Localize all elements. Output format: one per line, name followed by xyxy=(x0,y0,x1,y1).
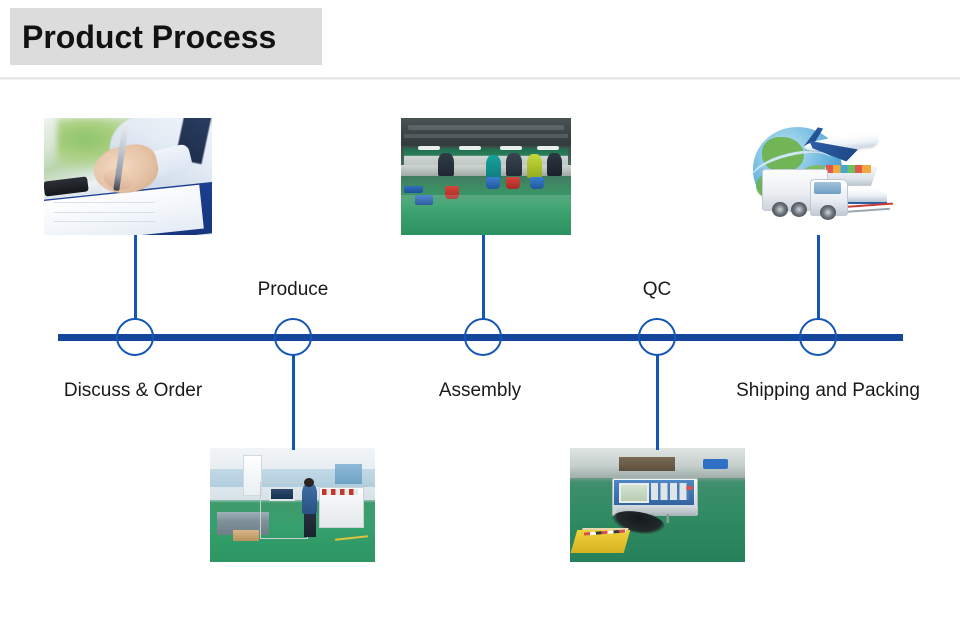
timeline-node-assembly[interactable] xyxy=(464,318,502,356)
connector-produce xyxy=(292,355,295,450)
connector-shipping-packing xyxy=(817,235,820,320)
timeline-node-qc[interactable] xyxy=(638,318,676,356)
connector-discuss-order xyxy=(134,235,137,320)
slide-canvas: Product Process xyxy=(0,0,960,617)
photo-shipping-packing xyxy=(740,118,900,235)
timeline-label-discuss-order: Discuss & Order xyxy=(64,380,202,402)
photo-assembly xyxy=(401,118,571,235)
timeline-node-discuss-order[interactable] xyxy=(116,318,154,356)
timeline-label-shipping-packing: Shipping and Packing xyxy=(736,380,920,402)
timeline-label-assembly: Assembly xyxy=(439,380,521,402)
connector-qc xyxy=(656,355,659,450)
photo-produce-content xyxy=(210,448,375,562)
timeline-label-produce: Produce xyxy=(258,279,329,301)
timeline-node-shipping-packing[interactable] xyxy=(799,318,837,356)
photo-shipping-packing-content xyxy=(740,118,900,235)
photo-qc-content xyxy=(570,448,745,562)
photo-discuss-order xyxy=(44,118,212,235)
photo-qc xyxy=(570,448,745,562)
header-divider xyxy=(0,77,960,80)
photo-discuss-order-content xyxy=(44,118,212,235)
timeline-node-produce[interactable] xyxy=(274,318,312,356)
page-title-box: Product Process xyxy=(10,8,322,65)
connector-assembly xyxy=(482,235,485,320)
photo-produce xyxy=(210,448,375,562)
timeline-label-qc: QC xyxy=(643,279,672,301)
page-title: Product Process xyxy=(22,21,276,53)
photo-assembly-content xyxy=(401,118,571,235)
